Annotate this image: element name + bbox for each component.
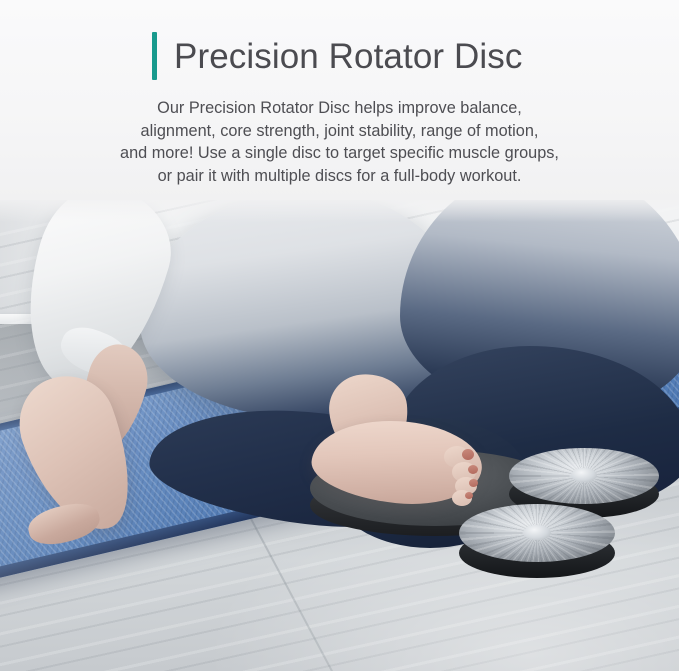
silver-rotator-disc-front xyxy=(459,504,615,586)
toenail xyxy=(462,449,474,460)
product-lifestyle-photo xyxy=(0,196,679,671)
body-copy: Our Precision Rotator Disc helps improve… xyxy=(0,97,679,187)
accent-bar xyxy=(152,32,157,80)
header-panel: Precision Rotator Disc Our Precision Rot… xyxy=(0,0,679,200)
product-feature-banner: Precision Rotator Disc Our Precision Rot… xyxy=(0,0,679,671)
body-line: and more! Use a single disc to target sp… xyxy=(0,142,679,165)
toenail xyxy=(465,492,473,499)
title-row: Precision Rotator Disc xyxy=(152,32,522,80)
body-line: or pair it with multiple discs for a ful… xyxy=(0,165,679,188)
body-line: Our Precision Rotator Disc helps improve… xyxy=(0,97,679,120)
body-line: alignment, core strength, joint stabilit… xyxy=(0,120,679,143)
toenail xyxy=(469,479,478,487)
toenail xyxy=(468,465,478,474)
page-title: Precision Rotator Disc xyxy=(174,39,522,74)
